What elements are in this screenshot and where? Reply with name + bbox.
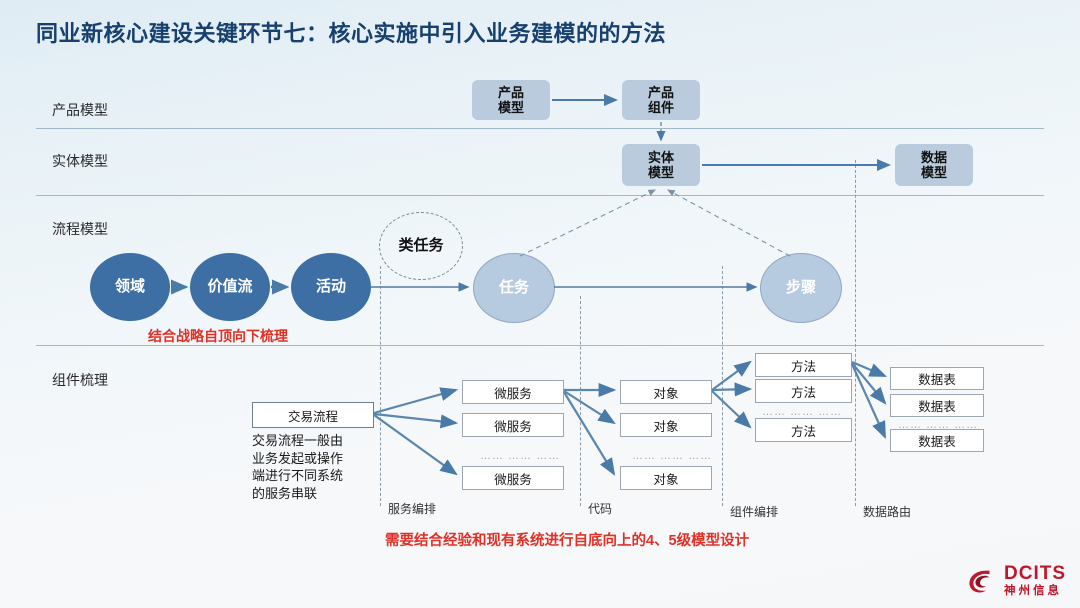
page-title: 同业新核心建设关键环节七：核心实施中引入业务建模的的方法 [36, 16, 666, 48]
microservice-ellipsis: …… …… …… [480, 450, 560, 462]
circle-task[interactable]: 任务 [473, 253, 555, 323]
box-method-2[interactable]: 方法 [755, 379, 852, 403]
box-microservice-1[interactable]: 微服务 [462, 380, 564, 404]
box-product-component[interactable]: 产品 组件 [622, 80, 700, 120]
column-separator-3 [722, 266, 723, 506]
annotation-top-down: 结合战略自顶向下梳理 [148, 326, 288, 346]
note-trade-flow-line4: 的服务串联 [252, 485, 372, 503]
box-object-2[interactable]: 对象 [620, 413, 712, 437]
note-trade-flow-line1: 交易流程一般由 [252, 432, 372, 450]
box-microservice-3[interactable]: 微服务 [462, 466, 564, 490]
slide-canvas: 同业新核心建设关键环节七：核心实施中引入业务建模的的方法 产品模型 实体模型 流… [0, 0, 1080, 608]
row-label-entity-model: 实体模型 [52, 151, 108, 171]
logo-text-en: DCITS [1004, 564, 1066, 583]
row-label-product-model: 产品模型 [52, 100, 108, 120]
box-product-model-line2: 模型 [498, 100, 524, 115]
row-label-process-model: 流程模型 [52, 219, 108, 239]
column-separator-4 [855, 160, 856, 506]
logo-text-cn: 神州信息 [1004, 586, 1066, 598]
circle-domain[interactable]: 领域 [90, 253, 170, 321]
box-method-3[interactable]: 方法 [755, 418, 852, 442]
column-label-code: 代码 [588, 500, 612, 517]
box-trade-flow[interactable]: 交易流程 [252, 402, 374, 428]
dcits-mark-icon [964, 564, 998, 598]
column-separator-1 [380, 266, 381, 506]
object-ellipsis: …… …… …… [632, 450, 712, 462]
column-separator-2 [580, 296, 581, 506]
box-entity-model-line2: 模型 [648, 165, 674, 180]
box-entity-model[interactable]: 实体 模型 [622, 144, 700, 186]
divider-entity-process [36, 195, 1044, 196]
box-object-3[interactable]: 对象 [620, 466, 712, 490]
note-trade-flow: 交易流程一般由 业务发起或操作 端进行不同系统 的服务串联 [252, 432, 372, 502]
box-data-model-line1: 数据 [921, 150, 947, 165]
note-trade-flow-line3: 端进行不同系统 [252, 467, 372, 485]
box-method-1[interactable]: 方法 [755, 353, 852, 377]
box-data-table-1[interactable]: 数据表 [890, 367, 984, 390]
logo-text: DCITS 神州信息 [1004, 564, 1066, 598]
box-microservice-2[interactable]: 微服务 [462, 413, 564, 437]
company-logo: DCITS 神州信息 [964, 564, 1066, 598]
box-product-component-line1: 产品 [648, 85, 674, 100]
box-data-model-line2: 模型 [921, 165, 947, 180]
column-label-data-routing: 数据路由 [863, 503, 911, 520]
box-product-model[interactable]: 产品 模型 [472, 80, 550, 120]
box-data-model[interactable]: 数据 模型 [895, 144, 973, 186]
note-trade-flow-line2: 业务发起或操作 [252, 450, 372, 468]
box-product-model-line1: 产品 [498, 85, 524, 100]
box-data-table-2[interactable]: 数据表 [890, 394, 984, 417]
box-data-table-3[interactable]: 数据表 [890, 429, 984, 452]
box-object-1[interactable]: 对象 [620, 380, 712, 404]
column-label-component-orchestration: 组件编排 [730, 503, 778, 520]
circle-activity[interactable]: 活动 [291, 253, 371, 321]
circle-task-class[interactable]: 类任务 [379, 212, 463, 280]
box-entity-model-line1: 实体 [648, 150, 674, 165]
divider-product-entity [36, 128, 1044, 129]
row-label-component-sorting: 组件梳理 [52, 370, 108, 390]
annotation-bottom-up: 需要结合经验和现有系统进行自底向上的4、5级模型设计 [385, 529, 749, 550]
box-product-component-line2: 组件 [648, 100, 674, 115]
circle-value-stream[interactable]: 价值流 [190, 253, 270, 321]
column-label-service-orchestration: 服务编排 [388, 500, 436, 517]
circle-step[interactable]: 步骤 [760, 253, 842, 323]
method-ellipsis: …… …… …… [762, 406, 842, 418]
